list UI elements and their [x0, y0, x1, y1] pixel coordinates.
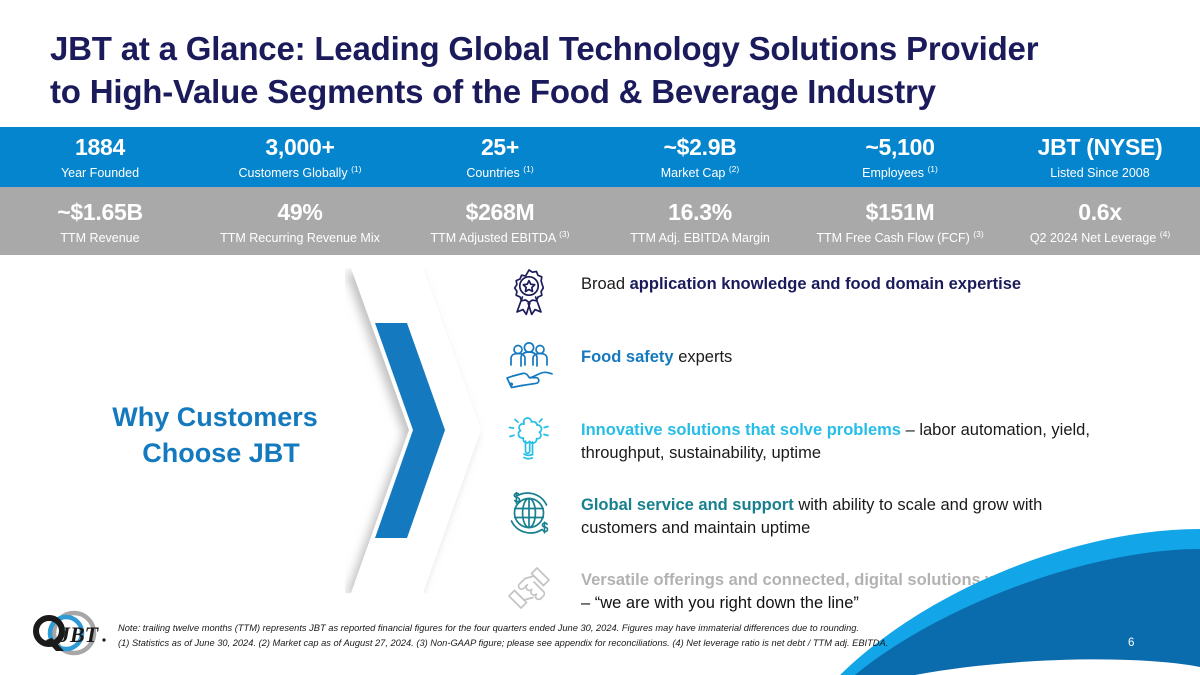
page-title-line-2: to High-Value Segments of the Food & Bev…: [50, 71, 1180, 114]
text-highlight: Innovative solutions that solve problems: [581, 421, 901, 439]
stat-card-ebitda-margin: 16.3% TTM Adj. EBITDA Margin: [600, 187, 800, 255]
wave-white-edge: [915, 659, 1200, 675]
footnotes: Note: trailing twelve months (TTM) repre…: [118, 621, 998, 651]
stat-value: 1884: [75, 135, 125, 161]
logo-registered-dot: [102, 638, 105, 641]
list-item: Food safety experts: [503, 339, 1103, 391]
stat-card-market-cap: ~$2.9B Market Cap (2): [600, 127, 800, 187]
stat-label: Employees (1): [862, 164, 938, 181]
stat-footnote-marker: (3): [973, 229, 983, 239]
stat-card-ttm-revenue: ~$1.65B TTM Revenue: [0, 187, 200, 255]
stat-label: Q2 2024 Net Leverage (4): [1030, 229, 1170, 246]
stat-label: Market Cap (2): [661, 164, 739, 181]
stat-value: JBT (NYSE): [1038, 135, 1163, 161]
value-prop-list: Broad application knowledge and food dom…: [503, 266, 1103, 637]
idea-puzzle-icon: [503, 412, 555, 464]
stat-label: TTM Recurring Revenue Mix: [220, 229, 380, 246]
stat-label: TTM Revenue: [60, 229, 139, 246]
stat-label: TTM Free Cash Flow (FCF) (3): [816, 229, 983, 246]
handshake-icon: [503, 562, 555, 614]
list-item-text: Food safety experts: [581, 339, 1103, 369]
stat-value: ~5,100: [865, 135, 934, 161]
stat-value: ~$2.9B: [663, 135, 736, 161]
footnote-line-1: Note: trailing twelve months (TTM) repre…: [118, 621, 998, 636]
why-line-2: Choose JBT: [90, 436, 340, 472]
list-item-text: Broad application knowledge and food dom…: [581, 266, 1103, 296]
text-trail: experts: [674, 348, 733, 366]
stat-card-ticker: JBT (NYSE) Listed Since 2008: [1000, 127, 1200, 187]
stat-footnote-marker: (1): [351, 164, 361, 174]
stats-bar-blue: 1884 Year Founded 3,000+ Customers Globa…: [0, 127, 1200, 187]
jbt-logo: JBT: [26, 608, 126, 660]
page-title: JBT at a Glance: Leading Global Technolo…: [50, 28, 1180, 114]
stat-value: 0.6x: [1078, 200, 1122, 226]
stat-value: 49%: [277, 200, 322, 226]
text-highlight: Versatile offerings and connected, digit…: [581, 571, 1092, 589]
stat-footnote-marker: (2): [729, 164, 739, 174]
logo-wordmark: JBT: [58, 622, 100, 647]
text-lead: Broad: [581, 275, 630, 293]
stat-footnote-marker: (3): [559, 229, 569, 239]
slide-root: JBT at a Glance: Leading Global Technolo…: [0, 0, 1200, 675]
stat-label: TTM Adjusted EBITDA (3): [431, 229, 570, 246]
list-item-text: Innovative solutions that solve problems…: [581, 412, 1103, 466]
stat-value: ~$1.65B: [57, 200, 143, 226]
stat-card-free-cash-flow: $151M TTM Free Cash Flow (FCF) (3): [800, 187, 1000, 255]
page-title-line-1: JBT at a Glance: Leading Global Technolo…: [50, 28, 1180, 71]
why-line-1: Why Customers: [90, 400, 340, 436]
stat-card-recurring-revenue-mix: 49% TTM Recurring Revenue Mix: [200, 187, 400, 255]
text-highlight: Global service and support: [581, 496, 794, 514]
stat-value: 16.3%: [668, 200, 732, 226]
stat-footnote-marker: (1): [927, 164, 937, 174]
list-item: Versatile offerings and connected, digit…: [503, 562, 1103, 616]
text-trail: – “we are with you right down the line”: [581, 594, 859, 612]
stat-value: $268M: [466, 200, 535, 226]
stat-card-year-founded: 1884 Year Founded: [0, 127, 200, 187]
list-item-text: Global service and support with ability …: [581, 487, 1103, 541]
stat-value: 25+: [481, 135, 519, 161]
people-in-hand-icon: [503, 339, 555, 391]
stats-bar-gray: ~$1.65B TTM Revenue 49% TTM Recurring Re…: [0, 187, 1200, 255]
stat-label: Customers Globally (1): [239, 164, 362, 181]
stat-card-net-leverage: 0.6x Q2 2024 Net Leverage (4): [1000, 187, 1200, 255]
stat-card-countries: 25+ Countries (1): [400, 127, 600, 187]
chevron-arrow-graphic: [345, 268, 485, 593]
stat-card-employees: ~5,100 Employees (1): [800, 127, 1000, 187]
stat-label: Year Founded: [61, 164, 139, 181]
stat-label: TTM Adj. EBITDA Margin: [630, 229, 770, 246]
list-item: Broad application knowledge and food dom…: [503, 266, 1103, 318]
list-item-text: Versatile offerings and connected, digit…: [581, 562, 1103, 616]
text-highlight: application knowledge and food domain ex…: [630, 275, 1021, 293]
list-item: Global service and support with ability …: [503, 487, 1103, 541]
stat-footnote-marker: (1): [523, 164, 533, 174]
text-highlight: Food safety: [581, 348, 674, 366]
award-ribbon-icon: [503, 266, 555, 318]
stat-footnote-marker: (4): [1160, 229, 1170, 239]
stat-label: Countries (1): [466, 164, 533, 181]
stat-card-customers-globally: 3,000+ Customers Globally (1): [200, 127, 400, 187]
chevron-svg: [345, 268, 485, 593]
stat-value: 3,000+: [265, 135, 334, 161]
footnote-line-2: (1) Statistics as of June 30, 2024. (2) …: [118, 636, 998, 651]
page-number: 6: [1128, 637, 1134, 649]
stat-value: $151M: [866, 200, 935, 226]
stat-label: Listed Since 2008: [1050, 164, 1149, 181]
stat-card-adjusted-ebitda: $268M TTM Adjusted EBITDA (3): [400, 187, 600, 255]
globe-dollar-icon: [503, 487, 555, 539]
list-item: Innovative solutions that solve problems…: [503, 412, 1103, 466]
why-customers-heading: Why Customers Choose JBT: [90, 400, 340, 471]
